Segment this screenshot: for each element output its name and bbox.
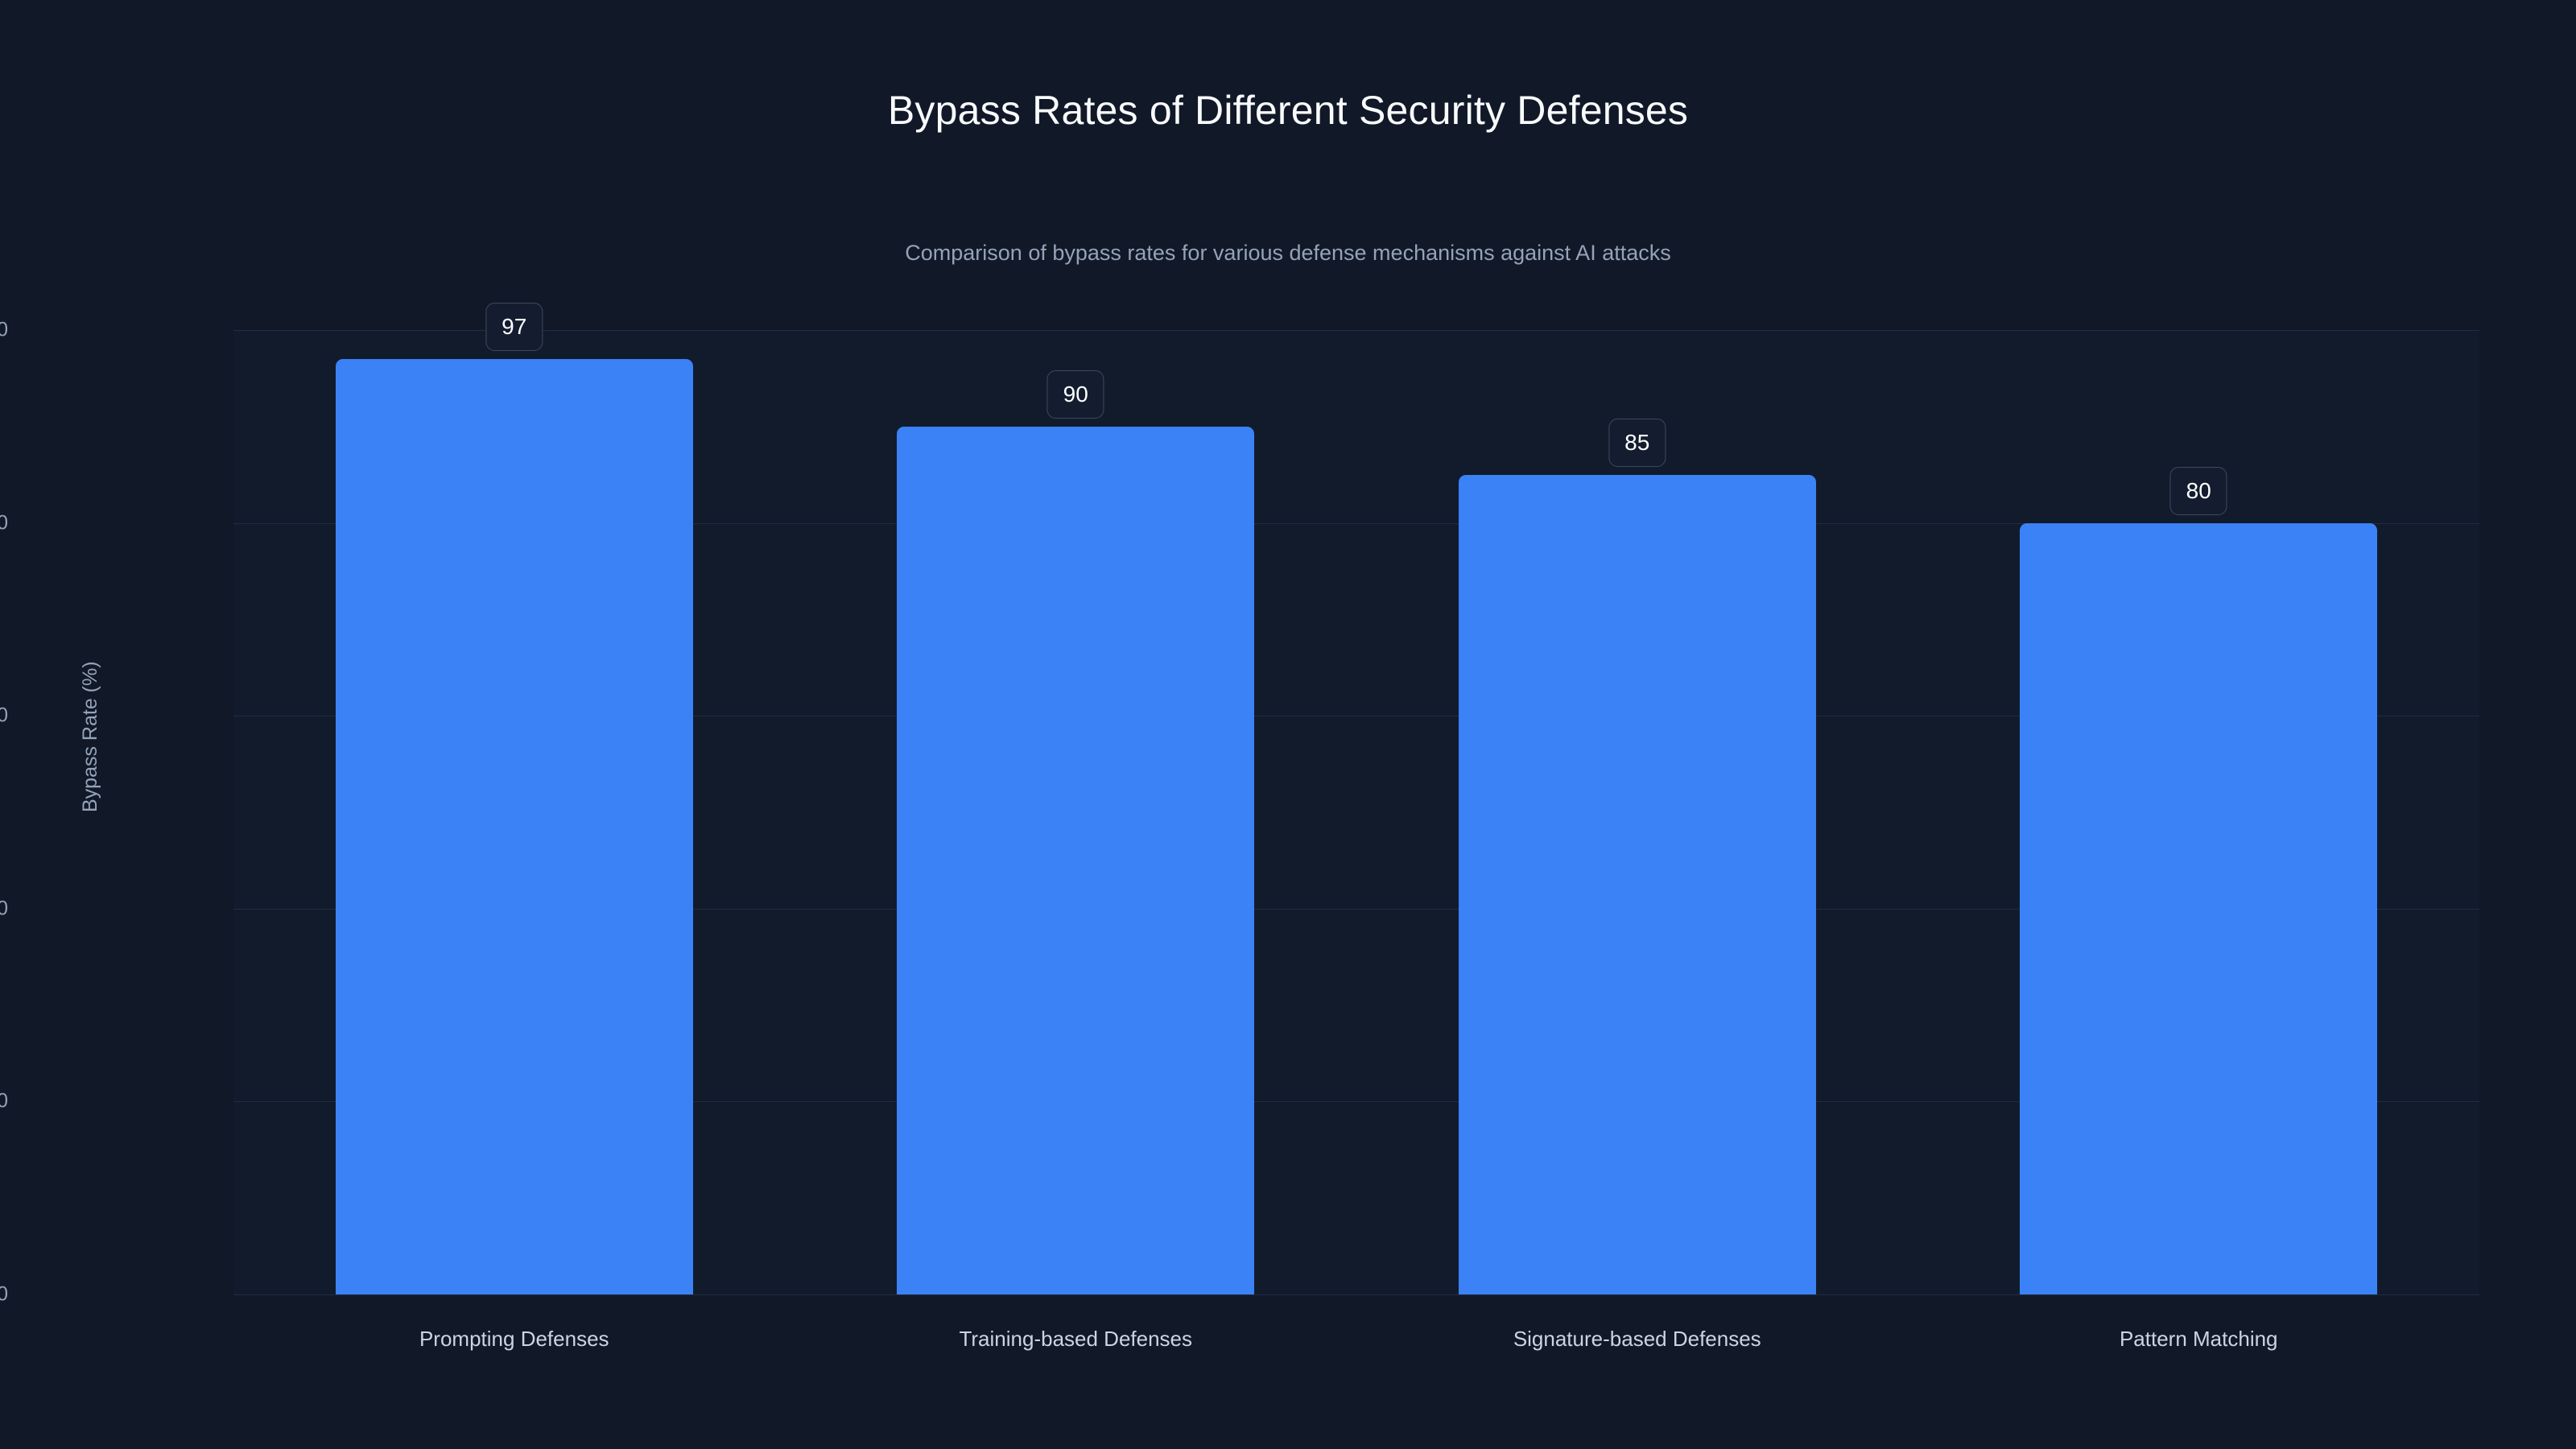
- chart-title: Bypass Rates of Different Security Defen…: [0, 89, 2576, 133]
- plot-area: [233, 330, 2479, 1294]
- x-axis-tick-label: Pattern Matching: [2120, 1328, 2278, 1349]
- bar[interactable]: [1459, 475, 1816, 1294]
- bar[interactable]: [897, 427, 1254, 1294]
- y-axis-title: Bypass Rate (%): [80, 661, 101, 812]
- y-axis-tick-label: 100: [0, 320, 8, 341]
- bar[interactable]: [2020, 523, 2377, 1294]
- bar-chart: Bypass Rates of Different Security Defen…: [0, 0, 2576, 1449]
- chart-subtitle: Comparison of bypass rates for various d…: [0, 242, 2576, 266]
- bar-value-label: 97: [485, 303, 543, 351]
- bar-value-label: 90: [1047, 370, 1104, 419]
- y-axis-tick-label: 80: [0, 513, 8, 533]
- y-axis-tick-label: 60: [0, 706, 8, 726]
- y-axis-tick-label: 20: [0, 1092, 8, 1112]
- gridline: [233, 1294, 2479, 1295]
- bar-value-label: 85: [1608, 419, 1666, 467]
- bar-value-label: 80: [2170, 467, 2227, 515]
- y-axis-tick-label: 40: [0, 898, 8, 919]
- gridline: [233, 330, 2479, 331]
- x-axis-tick-label: Signature-based Defenses: [1513, 1328, 1761, 1349]
- x-axis-tick-label: Training-based Defenses: [959, 1328, 1192, 1349]
- bar[interactable]: [336, 359, 693, 1294]
- x-axis-tick-label: Prompting Defenses: [419, 1328, 609, 1349]
- y-axis-tick-label: 0: [0, 1285, 8, 1305]
